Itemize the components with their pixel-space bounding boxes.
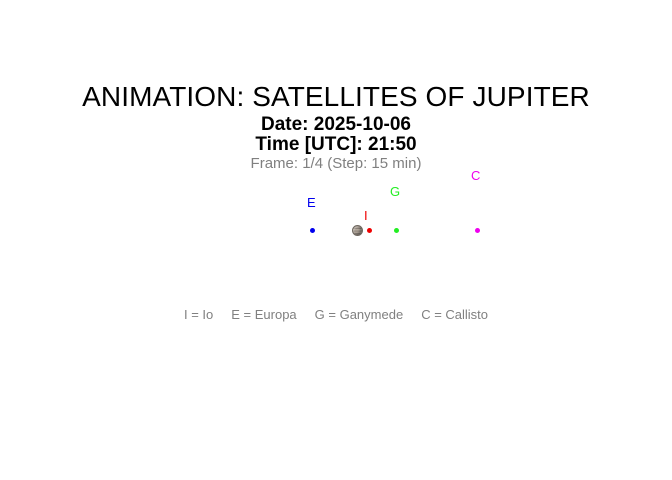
- legend-entry: C = Callisto: [421, 307, 488, 322]
- legend-entry: I = Io: [184, 307, 213, 322]
- moon-dot-europa: [310, 228, 315, 233]
- moon-dot-ganymede: [394, 228, 399, 233]
- legend: I = IoE = EuropaG = GanymedeC = Callisto: [0, 307, 672, 322]
- moon-dot-io: [367, 228, 372, 233]
- legend-entry: E = Europa: [231, 307, 296, 322]
- sky-plot-area: EIGC: [0, 0, 672, 480]
- moon-dot-callisto: [475, 228, 480, 233]
- animation-canvas: ANIMATION: SATELLITES OF JUPITER Date: 2…: [0, 0, 672, 480]
- jupiter-disk: [352, 225, 363, 236]
- moon-label-callisto: C: [471, 169, 480, 182]
- moon-label-europa: E: [307, 196, 316, 209]
- moon-label-io: I: [364, 209, 368, 222]
- legend-entry: G = Ganymede: [315, 307, 404, 322]
- moon-label-ganymede: G: [390, 185, 400, 198]
